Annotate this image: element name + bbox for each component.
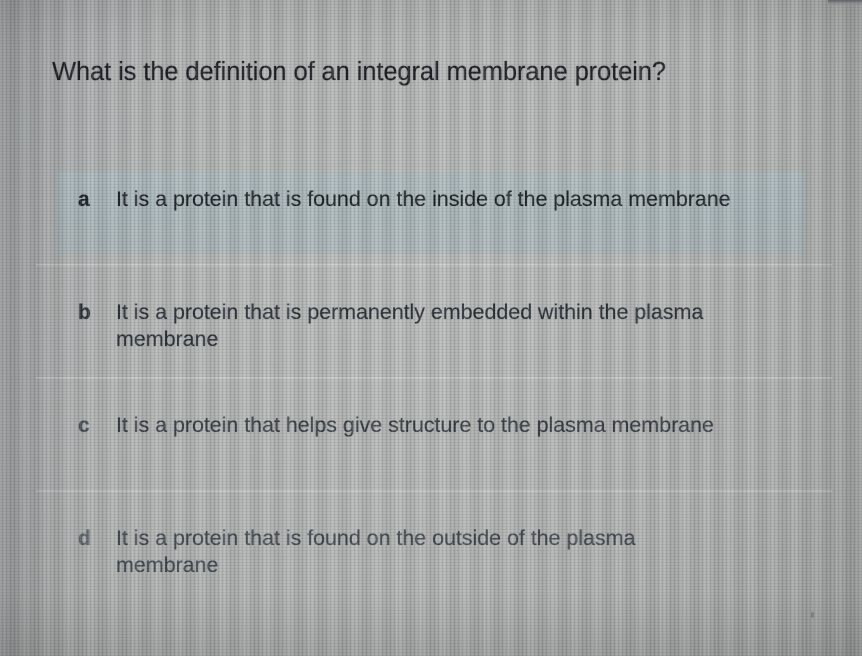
answer-options-list: a It is a protein that is found on the i…: [0, 160, 862, 612]
quiz-container: What is the definition of an integral me…: [0, 0, 862, 656]
option-letter-b: b: [78, 299, 116, 326]
answer-option-c[interactable]: c It is a protein that helps give struct…: [0, 386, 862, 499]
option-text-a: It is a protein that is found on the ins…: [116, 186, 741, 213]
option-letter-c: c: [78, 412, 116, 439]
question-text: What is the definition of an integral me…: [52, 55, 792, 89]
option-divider: [36, 377, 832, 380]
answer-option-b[interactable]: b It is a protein that is permanently em…: [0, 273, 862, 386]
option-letter-d: d: [78, 525, 116, 552]
option-text-b: It is a protein that is permanently embe…: [116, 299, 741, 353]
option-letter-a: a: [78, 186, 116, 213]
photographed-screen: What is the definition of an integral me…: [0, 0, 862, 656]
option-text-c: It is a protein that helps give structur…: [116, 412, 741, 439]
screen-bezel-edge: [828, 0, 862, 6]
option-text-d: It is a protein that is found on the out…: [116, 525, 741, 579]
option-divider: [36, 264, 832, 267]
answer-option-d[interactable]: d It is a protein that is found on the o…: [0, 499, 862, 612]
answer-option-a[interactable]: a It is a protein that is found on the i…: [0, 160, 862, 273]
option-divider: [36, 490, 832, 493]
dust-speck: [811, 612, 814, 618]
